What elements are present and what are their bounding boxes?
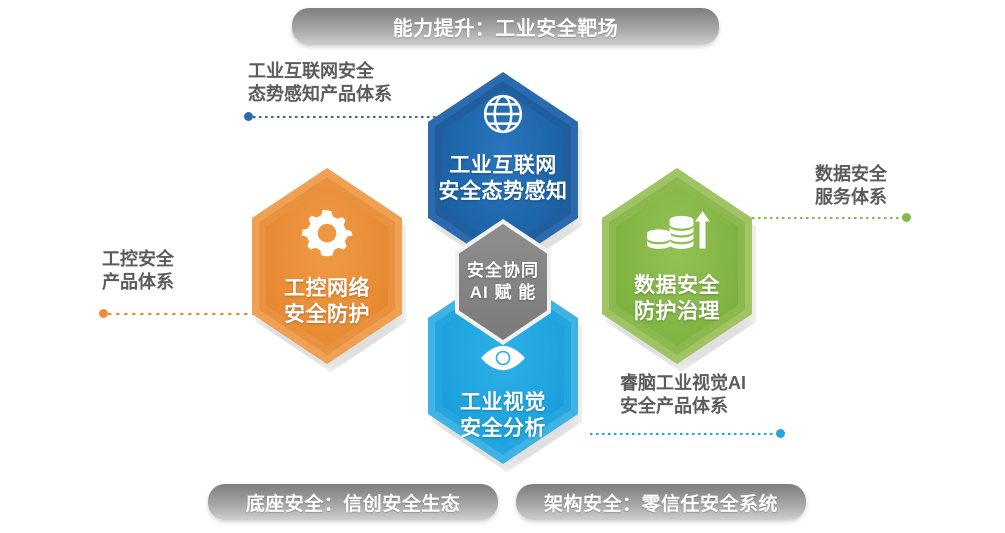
callout-right-line1: 数据安全 <box>815 163 887 186</box>
callout-left: 工控安全 产品体系 <box>102 248 174 294</box>
hexagon-left-line2: 安全防护 <box>284 302 370 328</box>
callout-right: 数据安全 服务体系 <box>815 163 887 209</box>
callout-bottom-right-line1: 睿脑工业视觉AI <box>620 372 746 395</box>
data-stack-arrow-icon <box>644 208 710 261</box>
banner-bottom-right[interactable]: 架构安全：零信任安全系统 <box>516 484 806 520</box>
hexagon-top-line1: 工业互联网 <box>439 153 568 179</box>
banner-bottom-left[interactable]: 底座安全：信创安全生态 <box>208 484 498 520</box>
callout-left-line1: 工控安全 <box>102 248 174 271</box>
hexagon-center-line1: 安全协同 <box>467 260 539 282</box>
banner-bottom-left-label: 底座安全：信创安全生态 <box>246 489 461 516</box>
hexagon-center-line2: AI 赋 能 <box>467 282 539 304</box>
connector-line-top-left <box>253 116 449 118</box>
hexagon-right-line2: 防护治理 <box>634 299 720 325</box>
callout-bottom-right: 睿脑工业视觉AI 安全产品体系 <box>620 372 746 418</box>
hexagon-top-line2: 安全态势感知 <box>439 179 568 205</box>
hexagon-right-line1: 数据安全 <box>634 273 720 299</box>
callout-top-left-line2: 态势感知产品体系 <box>248 83 392 106</box>
callout-right-line2: 服务体系 <box>815 186 887 209</box>
callout-left-line2: 产品体系 <box>102 271 174 294</box>
connector-dot-top-left <box>244 112 253 121</box>
hexagon-bottom-line1: 工业视觉 <box>460 390 546 416</box>
connector-dot-bottom-right <box>776 429 785 438</box>
connector-dot-right <box>902 213 911 222</box>
banner-top[interactable]: 能力提升：工业安全靶场 <box>292 8 719 45</box>
callout-top-left-line1: 工业互联网安全 <box>248 60 392 83</box>
eye-icon <box>477 343 529 378</box>
globe-icon <box>481 92 525 141</box>
banner-top-label: 能力提升：工业安全靶场 <box>393 12 619 41</box>
connector-line-bottom-right <box>590 433 780 435</box>
diagram-canvas: 能力提升：工业安全靶场 底座安全：信创安全生态 架构安全：零信任安全系统 工业互… <box>0 0 1005 533</box>
gear-icon <box>300 205 354 264</box>
hexagon-bottom-line2: 安全分析 <box>460 416 546 442</box>
banner-bottom-right-label: 架构安全：零信任安全系统 <box>544 489 778 516</box>
hexagon-left-line1: 工控网络 <box>284 276 370 302</box>
connector-dot-left <box>99 309 108 318</box>
callout-bottom-right-line2: 安全产品体系 <box>620 395 746 418</box>
callout-top-left: 工业互联网安全 态势感知产品体系 <box>248 60 392 106</box>
